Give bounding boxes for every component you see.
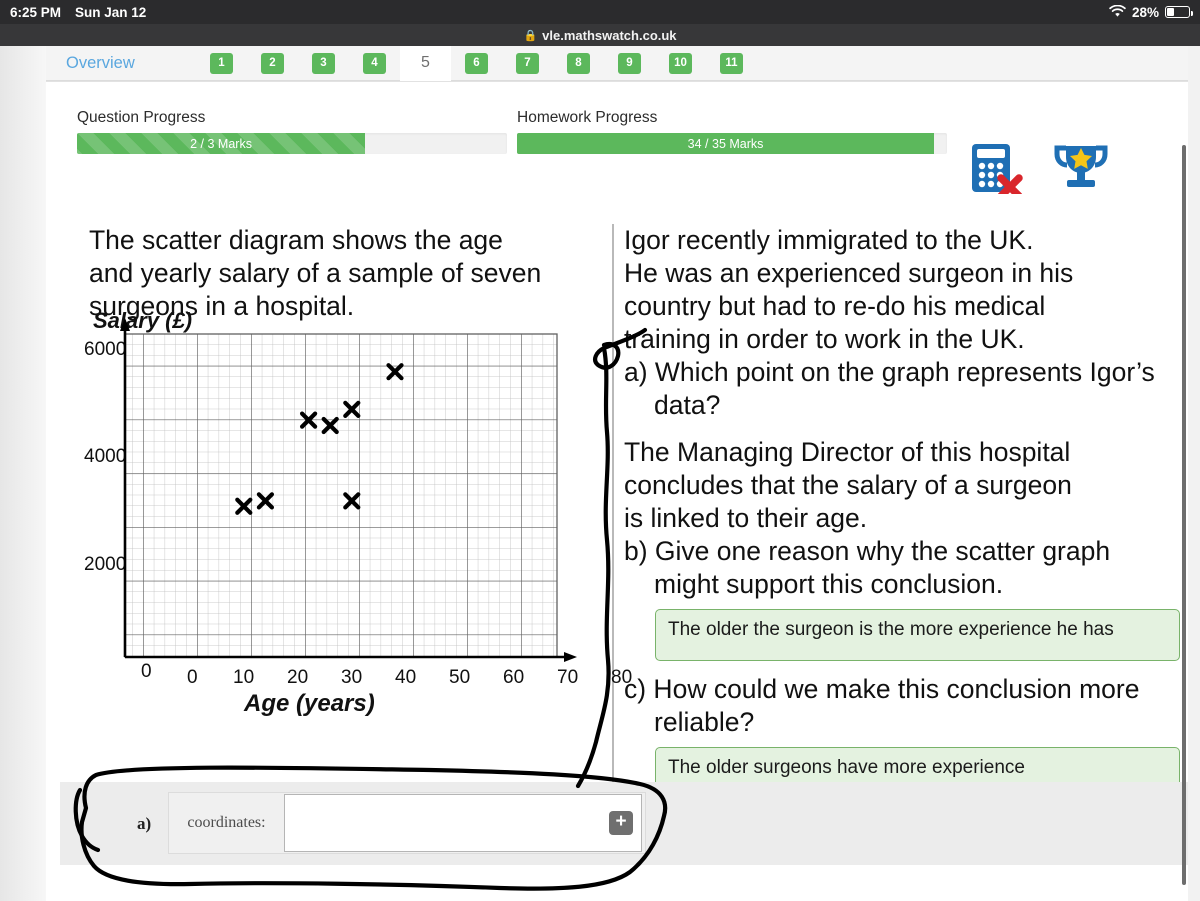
tab-question-3[interactable]: 3 xyxy=(298,46,349,81)
answer-part-label: a) xyxy=(137,814,151,834)
browser-url-bar[interactable]: 🔒 vle.mathswatch.co.uk xyxy=(0,24,1200,46)
answer-entry-bar: a) coordinates: + xyxy=(60,782,1188,865)
page-scrollbar[interactable] xyxy=(1182,145,1186,885)
director-paragraph: The Managing Director of this hospital c… xyxy=(624,436,1180,535)
scatter-chart: Salary (£) Age (years) 60000 40000 20000… xyxy=(89,312,609,742)
tab-badge-2: 2 xyxy=(261,53,284,74)
question-part-b: b) Give one reason why the scatter graph… xyxy=(624,535,1180,601)
homework-progress-track: 34 / 35 Marks xyxy=(517,133,947,154)
question-tab-strip: Overview 1 2 3 4 5 6 7 8 xyxy=(46,46,1188,81)
battery-icon xyxy=(1165,6,1190,18)
homework-progress-fill: 34 / 35 Marks xyxy=(517,133,934,154)
status-time: 6:25 PM xyxy=(10,5,61,20)
igor-line-3: country but had to re-do his medical xyxy=(624,290,1180,323)
coordinates-label: coordinates: xyxy=(169,814,284,832)
wifi-icon xyxy=(1109,5,1126,20)
tab-badge-9: 9 xyxy=(618,53,641,74)
tab-overview-label: Overview xyxy=(66,54,135,73)
footer-strip xyxy=(60,873,1188,901)
ios-status-bar: 6:25 PM Sun Jan 12 28% xyxy=(0,0,1200,24)
tab-badge-7: 7 xyxy=(516,53,539,74)
question-area: The scatter diagram shows the age and ye… xyxy=(46,194,1188,834)
tab-badge-8: 8 xyxy=(567,53,590,74)
tab-question-8[interactable]: 8 xyxy=(553,46,604,81)
tab-badge-10: 10 xyxy=(669,53,692,74)
status-date: Sun Jan 12 xyxy=(75,5,146,20)
coordinates-field-group: coordinates: + xyxy=(168,792,646,854)
page-content: Overview 1 2 3 4 5 6 7 8 xyxy=(46,46,1188,901)
director-line-2: concludes that the salary of a surgeon xyxy=(624,469,1180,502)
answer-box-b[interactable]: The older the surgeon is the more experi… xyxy=(655,609,1180,661)
tab-badge-4: 4 xyxy=(363,53,386,74)
question-right-column: Igor recently immigrated to the UK. He w… xyxy=(624,224,1180,811)
lock-icon: 🔒 xyxy=(523,29,537,42)
question-progress-track: 2 / 3 Marks xyxy=(77,133,507,154)
battery-percent-label: 28% xyxy=(1132,5,1159,20)
plus-icon[interactable]: + xyxy=(609,811,633,835)
tab-badge-3: 3 xyxy=(312,53,335,74)
trophy-icon xyxy=(1052,142,1110,192)
tab-question-9[interactable]: 9 xyxy=(604,46,655,81)
url-text: vle.mathswatch.co.uk xyxy=(542,28,676,43)
igor-paragraph: Igor recently immigrated to the UK. He w… xyxy=(624,224,1180,356)
page-left-gutter xyxy=(0,46,46,901)
question-intro-line-1: The scatter diagram shows the age xyxy=(89,224,609,257)
tab-overview[interactable]: Overview xyxy=(46,46,196,81)
tab-badge-6: 6 xyxy=(465,53,488,74)
chart-x-axis-label: Age (years) xyxy=(244,690,375,718)
tab-question-2[interactable]: 2 xyxy=(247,46,298,81)
director-line-3: is linked to their age. xyxy=(624,502,1180,535)
tab-question-11[interactable]: 11 xyxy=(706,46,757,81)
calculator-not-allowed-icon xyxy=(971,142,1023,200)
tab-badge-11: 11 xyxy=(720,53,743,74)
igor-line-2: He was an experienced surgeon in his xyxy=(624,257,1180,290)
coordinates-input[interactable]: + xyxy=(284,794,642,852)
tab-strip-underline xyxy=(46,81,1188,82)
igor-line-4: training in order to work in the UK. xyxy=(624,323,1180,356)
page-right-gutter xyxy=(1188,46,1200,901)
tab-question-10[interactable]: 10 xyxy=(655,46,706,81)
tab-question-5[interactable]: 5 xyxy=(400,46,451,81)
tab-question-6[interactable]: 6 xyxy=(451,46,502,81)
igor-line-1: Igor recently immigrated to the UK. xyxy=(624,224,1180,257)
tab-question-1[interactable]: 1 xyxy=(196,46,247,81)
progress-row: Question Progress 2 / 3 Marks Homework P… xyxy=(46,99,1188,194)
homework-progress-block: Homework Progress 34 / 35 Marks xyxy=(517,109,947,154)
homework-progress-label: Homework Progress xyxy=(517,109,947,127)
tab-question-7[interactable]: 7 xyxy=(502,46,553,81)
column-divider xyxy=(612,224,614,804)
question-progress-label: Question Progress xyxy=(77,109,507,127)
question-progress-fill: 2 / 3 Marks xyxy=(77,133,365,154)
chart-plot-svg xyxy=(89,312,609,692)
director-line-1: The Managing Director of this hospital xyxy=(624,436,1180,469)
question-part-a: a) Which point on the graph represents I… xyxy=(624,356,1180,422)
question-progress-block: Question Progress 2 / 3 Marks xyxy=(77,109,507,154)
status-bar-right: 28% xyxy=(1109,5,1200,20)
tab-badge-1: 1 xyxy=(210,53,233,74)
status-bar-left: 6:25 PM Sun Jan 12 xyxy=(0,5,146,20)
screen-root: 6:25 PM Sun Jan 12 28% 🔒 vle.mathswatch.… xyxy=(0,0,1200,901)
question-intro-line-2: and yearly salary of a sample of seven xyxy=(89,257,609,290)
question-part-c: c) How could we make this conclusion mor… xyxy=(624,673,1180,739)
tab-label-5: 5 xyxy=(421,54,430,72)
tab-strip-filler xyxy=(757,46,1188,81)
tab-question-4[interactable]: 4 xyxy=(349,46,400,81)
